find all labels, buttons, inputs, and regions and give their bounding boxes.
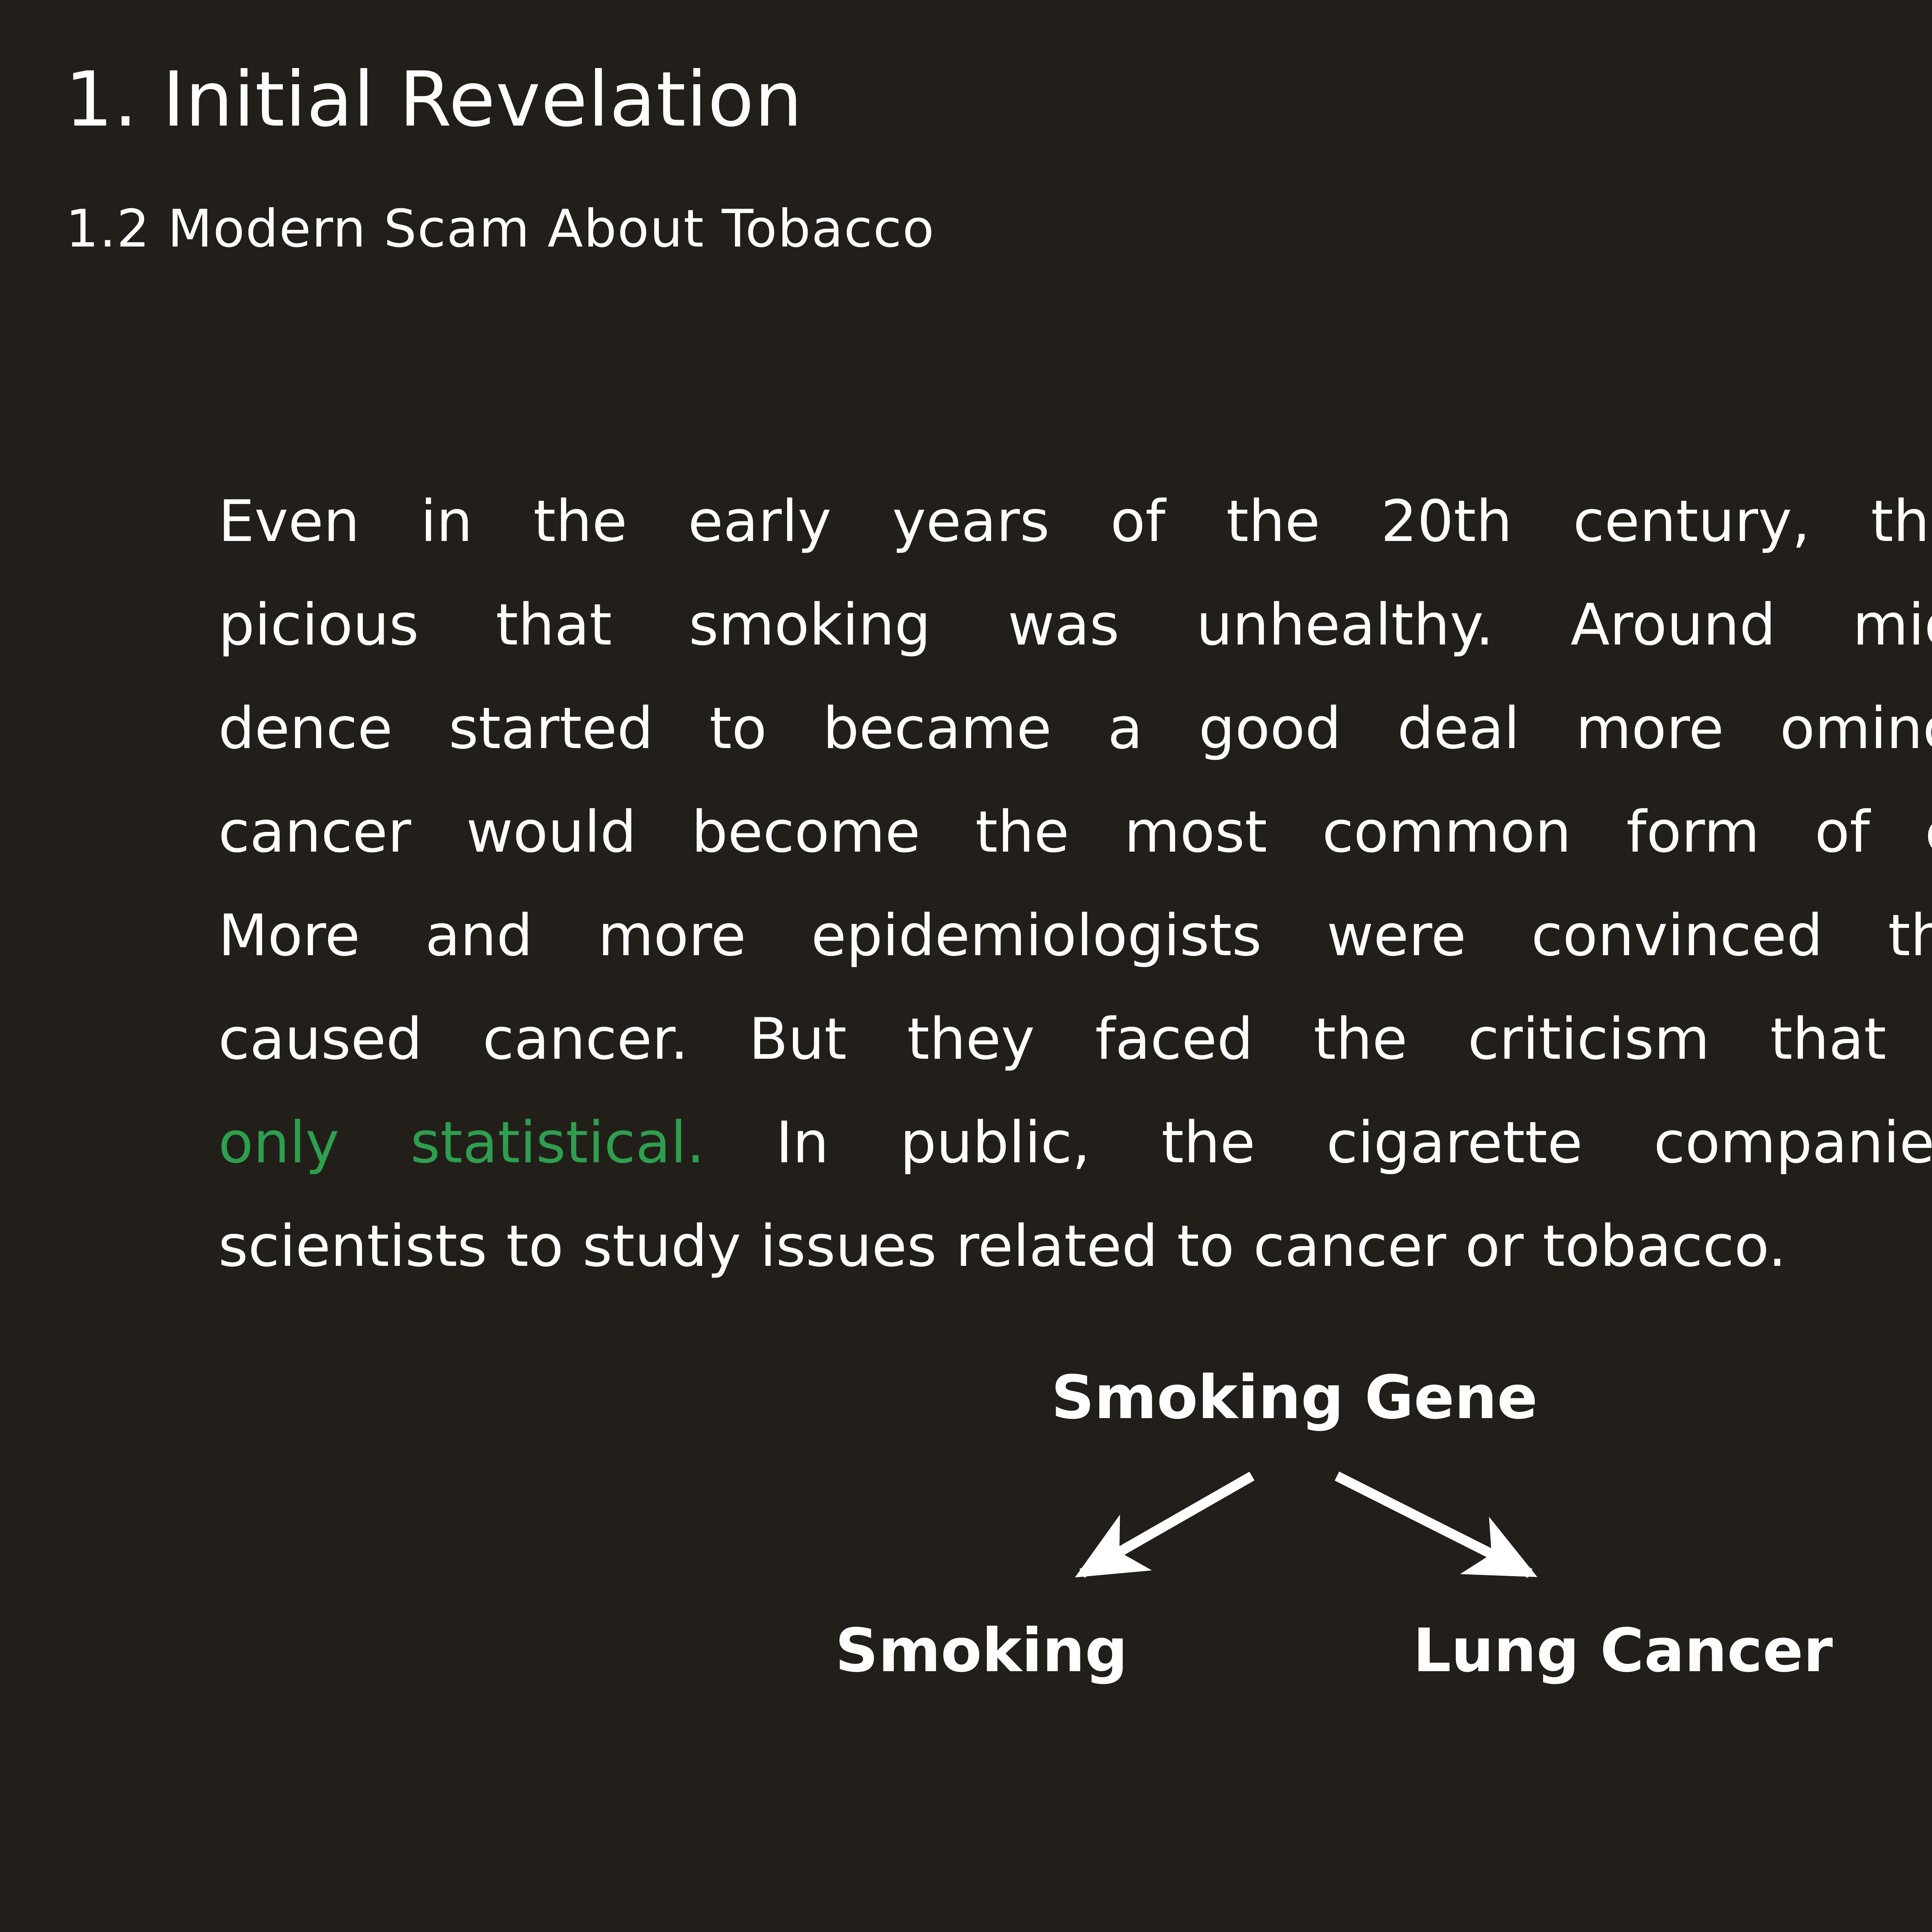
highlight-statistical: statistical. xyxy=(410,1091,704,1194)
body-paragraph: Evenintheearlyyearsofthe20thcentury,ther… xyxy=(218,469,1932,1298)
node-label-smoking: Smoking xyxy=(835,1616,1128,1685)
causal-diagram: Smoking Gene Smoking Lung Cancer xyxy=(734,1360,1932,1708)
node-label-lung-cancer: Lung Cancer xyxy=(1413,1616,1833,1685)
body-line-5: Moreandmoreepidemiologistswereconvincedt… xyxy=(218,884,1932,987)
body-line-6: causedcancer.Buttheyfacedthecriticismtha… xyxy=(218,987,1932,1091)
body-line-3: dencestartedtobecameagooddealmoreominous… xyxy=(218,677,1932,780)
highlight-only: only xyxy=(218,1091,339,1194)
causal-diagram-svg: Smoking Gene Smoking Lung Cancer xyxy=(734,1360,1932,1708)
body-line-1: Evenintheearlyyearsofthe20thcentury,ther… xyxy=(218,469,1932,573)
edge-gene-to-lung-cancer xyxy=(1337,1476,1530,1573)
body-line-7: onlystatistical.Inpublic,thecigarettecom… xyxy=(218,1091,1932,1194)
body-line-4: cancerwouldbecomethemostcommonformofcanc… xyxy=(218,780,1932,884)
page-subtitle: 1.2 Modern Scam About Tobacco xyxy=(66,203,935,255)
node-label-smoking-gene: Smoking Gene xyxy=(1051,1362,1538,1432)
page-title: 1. Initial Revelation xyxy=(65,62,803,138)
body-line-2: piciousthatsmokingwasunhealthy.Aroundmid… xyxy=(218,573,1932,677)
beamer-slide: 1. Initial Revelation 1.2 Modern Scam Ab… xyxy=(0,0,1932,1932)
body-line-8: scientists to study issues related to ca… xyxy=(218,1194,1932,1298)
edge-gene-to-smoking xyxy=(1082,1476,1252,1573)
